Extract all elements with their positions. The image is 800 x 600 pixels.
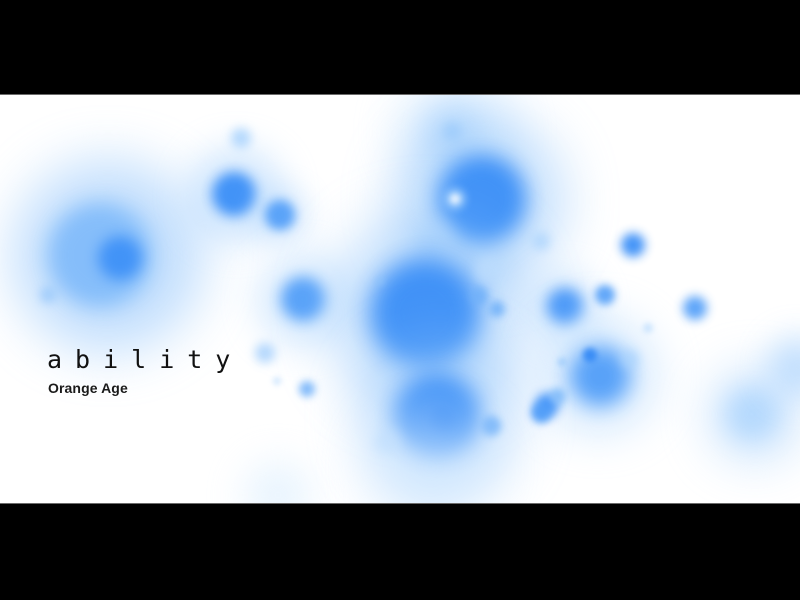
bokeh-blob [376,277,384,285]
bokeh-blob [98,236,142,280]
bokeh-blob [595,285,615,305]
bokeh-blob [489,301,505,317]
page-title: ability [47,347,243,372]
bokeh-blob [532,232,550,250]
bokeh-blob [231,128,251,148]
bokeh-blob [470,287,488,305]
bokeh-blob [299,381,315,397]
artwork-canvas: ability Orange Age [0,95,800,503]
bokeh-blob [475,258,499,282]
bokeh-blob [273,377,281,385]
bokeh-blob-field [0,95,800,503]
bokeh-blob [244,461,312,503]
bokeh-blob [265,200,295,230]
bokeh-blob [558,358,566,366]
bokeh-blob [40,287,56,303]
bokeh-blob [643,323,653,333]
letterbox-bar-top [0,0,800,95]
bokeh-blob [281,277,325,321]
bokeh-blob [547,288,583,324]
letterbox-edge-top [0,94,800,95]
page-subtitle: Orange Age [48,381,243,395]
bokeh-blob [726,388,778,440]
bokeh-blob [550,388,566,404]
bokeh-blob [531,403,551,423]
title-block: ability Orange Age [47,347,243,395]
bokeh-blob [450,194,460,204]
letterbox-edge-bottom [0,503,800,504]
bokeh-blob [583,348,597,362]
bokeh-blob [481,416,501,436]
bokeh-blob [621,350,639,368]
bokeh-blob [212,172,256,216]
bokeh-blob [621,233,645,257]
letterbox-bar-bottom [0,503,800,600]
video-frame: ability Orange Age [0,0,800,600]
bokeh-blob [683,296,707,320]
bokeh-blob [255,343,275,363]
